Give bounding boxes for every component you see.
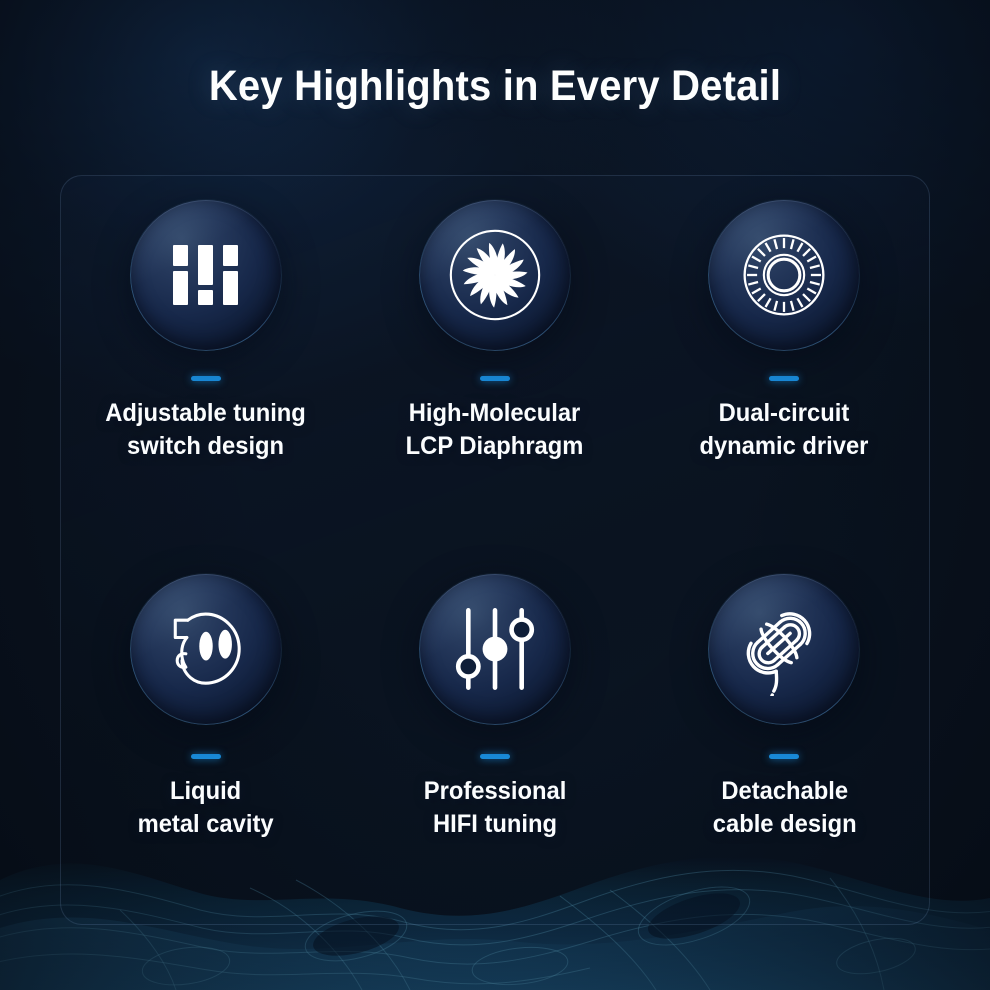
accent-dash bbox=[191, 754, 221, 759]
icon-badge bbox=[420, 574, 570, 724]
page-title: Key Highlights in Every Detail bbox=[35, 62, 956, 111]
accent-dash bbox=[191, 376, 221, 381]
feature-caption: Dual-circuit dynamic driver bbox=[700, 397, 869, 464]
feature-caption: Detachable cable design bbox=[712, 775, 856, 842]
feature-caption: Liquid metal cavity bbox=[138, 775, 274, 842]
tuning-switch-icon bbox=[167, 236, 245, 314]
accent-dash bbox=[769, 754, 799, 759]
accent-dash bbox=[769, 376, 799, 381]
equalizer-sliders-icon bbox=[449, 603, 541, 695]
feature-item-hifi-tuning[interactable]: Professional HIFI tuning bbox=[350, 550, 639, 924]
icon-badge bbox=[709, 200, 859, 350]
earphone-cavity-icon bbox=[158, 601, 254, 697]
dynamic-driver-icon bbox=[736, 227, 832, 323]
feature-item-liquid-metal-cavity[interactable]: Liquid metal cavity bbox=[61, 550, 350, 924]
feature-grid: Adjustable tuning switch design bbox=[61, 176, 929, 924]
diaphragm-swirl-icon bbox=[447, 227, 543, 323]
feature-item-detachable-cable[interactable]: Detachable cable design bbox=[640, 550, 929, 924]
feature-item-lcp-diaphragm[interactable]: High-Molecular LCP Diaphragm bbox=[350, 176, 639, 550]
feature-caption: Adjustable tuning switch design bbox=[105, 397, 306, 464]
icon-badge bbox=[420, 200, 570, 350]
accent-dash bbox=[480, 376, 510, 381]
feature-item-dynamic-driver[interactable]: Dual-circuit dynamic driver bbox=[640, 176, 929, 550]
accent-dash bbox=[480, 754, 510, 759]
feature-card: Adjustable tuning switch design bbox=[60, 175, 930, 925]
feature-caption: Professional HIFI tuning bbox=[424, 775, 567, 842]
coiled-cable-icon bbox=[737, 602, 831, 696]
feature-item-adjustable-tuning-switch[interactable]: Adjustable tuning switch design bbox=[61, 176, 350, 550]
icon-badge bbox=[131, 574, 281, 724]
icon-badge bbox=[131, 200, 281, 350]
feature-caption: High-Molecular LCP Diaphragm bbox=[406, 397, 584, 464]
icon-badge bbox=[709, 574, 859, 724]
